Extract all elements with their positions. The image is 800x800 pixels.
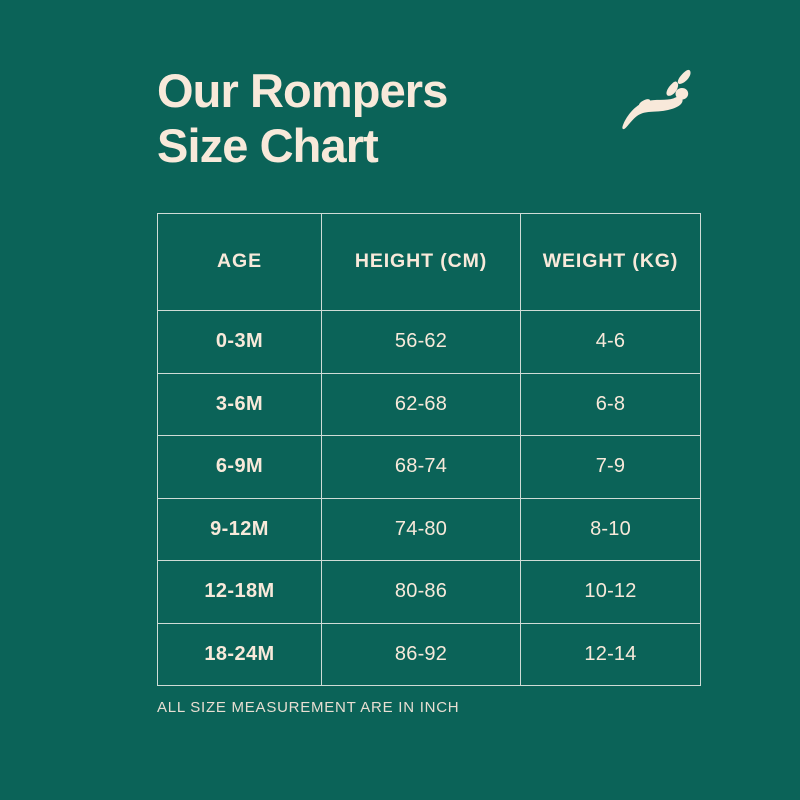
table-header-row: AGE HEIGHT (CM) WEIGHT (KG) xyxy=(158,214,701,311)
page-title: Our Rompers Size Chart xyxy=(157,64,447,173)
cell-height: 80-86 xyxy=(322,561,521,624)
table-row: 0-3M 56-62 4-6 xyxy=(158,311,701,374)
cell-height: 56-62 xyxy=(322,311,521,374)
table-row: 3-6M 62-68 6-8 xyxy=(158,373,701,436)
cell-height: 68-74 xyxy=(322,436,521,499)
cell-height: 62-68 xyxy=(322,373,521,436)
poster-header: Our Rompers Size Chart xyxy=(157,64,740,173)
size-chart-table: AGE HEIGHT (CM) WEIGHT (KG) 0-3M 56-62 4… xyxy=(157,213,701,686)
table-row: 6-9M 68-74 7-9 xyxy=(158,436,701,499)
cell-weight: 10-12 xyxy=(521,561,701,624)
cell-age: 9-12M xyxy=(158,498,322,561)
cell-weight: 8-10 xyxy=(521,498,701,561)
cell-age: 12-18M xyxy=(158,561,322,624)
cell-age: 0-3M xyxy=(158,311,322,374)
leaping-rabbit-logo-icon xyxy=(618,68,692,130)
cell-age: 18-24M xyxy=(158,623,322,686)
cell-age: 6-9M xyxy=(158,436,322,499)
cell-weight: 4-6 xyxy=(521,311,701,374)
cell-age: 3-6M xyxy=(158,373,322,436)
cell-height: 74-80 xyxy=(322,498,521,561)
cell-weight: 12-14 xyxy=(521,623,701,686)
column-header-height: HEIGHT (CM) xyxy=(322,214,521,311)
measurement-footnote: ALL SIZE MEASUREMENT ARE IN INCH xyxy=(157,699,459,716)
table-row: 9-12M 74-80 8-10 xyxy=(158,498,701,561)
table-row: 12-18M 80-86 10-12 xyxy=(158,561,701,624)
cell-height: 86-92 xyxy=(322,623,521,686)
table-row: 18-24M 86-92 12-14 xyxy=(158,623,701,686)
column-header-weight: WEIGHT (KG) xyxy=(521,214,701,311)
size-chart-poster: Our Rompers Size Chart xyxy=(0,0,800,800)
cell-weight: 7-9 xyxy=(521,436,701,499)
cell-weight: 6-8 xyxy=(521,373,701,436)
column-header-age: AGE xyxy=(158,214,322,311)
